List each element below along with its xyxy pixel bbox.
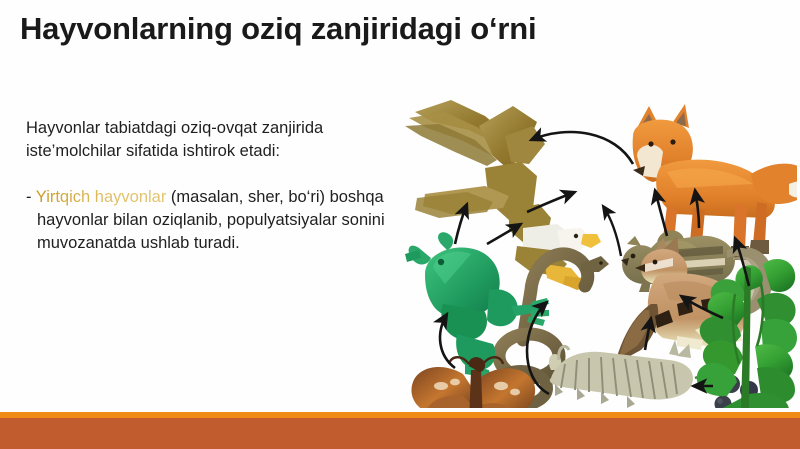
highlighted-term: Yirtqich hayvonlar <box>36 188 167 206</box>
bullet-paragraph: - Yirtqich hayvonlar (masalan, sher, bo‘… <box>26 186 401 255</box>
bullet-dash: - <box>26 188 32 206</box>
arrow-fox-to-eagle <box>531 132 633 164</box>
page-title: Hayvonlarning oziq zanjiridagi o‘rni <box>20 10 660 49</box>
slide-canvas: Hayvonlarning oziq zanjiridagi o‘rni Hay… <box>0 0 800 449</box>
intro-paragraph: Hayvonlar tabiatdagi oziq-ovqat zanjirid… <box>26 117 401 163</box>
footer-band <box>0 418 800 449</box>
arrow-bird-to-eagle <box>603 206 621 256</box>
body-text-block: Hayvonlar tabiatdagi oziq-ovqat zanjirid… <box>26 117 401 255</box>
food-web-illustration <box>405 78 797 408</box>
moth-icon <box>411 357 535 408</box>
